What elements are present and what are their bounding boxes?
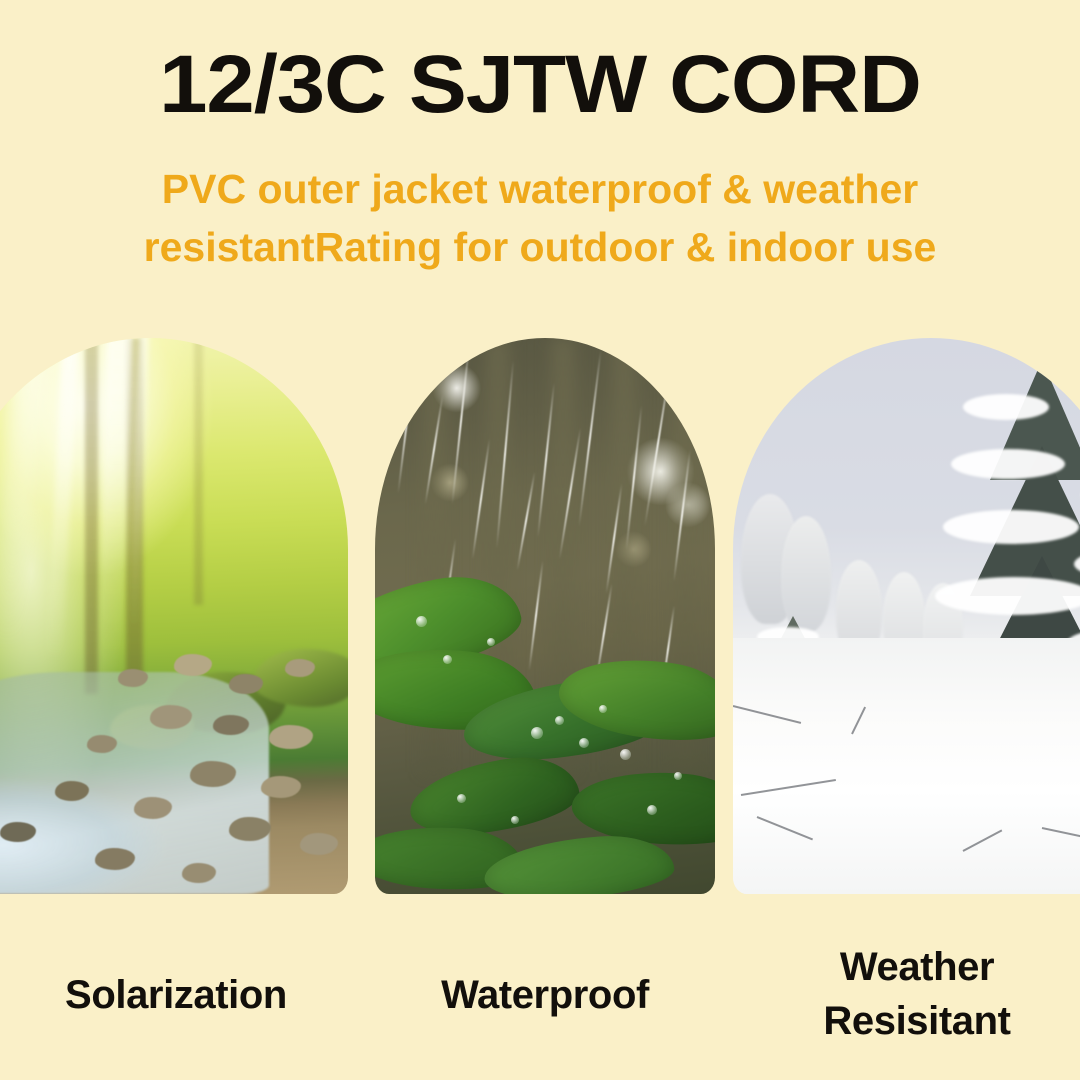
- water-droplet: [457, 794, 466, 803]
- pebble-bed: [0, 638, 348, 894]
- feature-panel-waterproof: [375, 338, 715, 894]
- sunlit-forest-image: [0, 338, 348, 894]
- pebble: [229, 817, 271, 841]
- pebble: [213, 715, 249, 735]
- rain-streak: [528, 561, 544, 672]
- feature-panels: [0, 0, 1080, 1080]
- pebble: [118, 669, 148, 687]
- background-tree: [781, 516, 831, 632]
- rain-streak: [451, 338, 470, 504]
- water-droplet: [443, 655, 452, 664]
- pebble: [150, 705, 192, 729]
- pebble: [300, 833, 338, 855]
- sunbeam: [46, 338, 80, 661]
- rain-streak: [644, 361, 672, 526]
- water-droplet: [647, 805, 657, 815]
- pebble: [229, 674, 263, 694]
- caption-weather-line-2: Resisitant: [767, 994, 1067, 1048]
- caption-weather-line-1: Weather: [767, 940, 1067, 994]
- wet-leaf: [482, 832, 676, 894]
- pebble: [285, 659, 315, 677]
- feature-panel-solarization: [0, 338, 348, 894]
- snow-field: [733, 638, 1080, 894]
- tree-trunk: [194, 338, 203, 605]
- water-droplet: [416, 616, 427, 627]
- pebble: [261, 776, 301, 798]
- pebble: [55, 781, 89, 801]
- pebble: [134, 797, 172, 819]
- pebble: [182, 863, 216, 883]
- snow-on-branch: [951, 449, 1065, 479]
- caption-solarization: Solarization: [26, 968, 326, 1022]
- rain-streak: [516, 472, 535, 571]
- pebble: [174, 654, 212, 676]
- pebble: [190, 761, 236, 787]
- snow-on-branch: [963, 394, 1049, 420]
- snowy-forest-image: [733, 338, 1080, 894]
- caption-waterproof: Waterproof: [395, 968, 695, 1022]
- sunbeam: [0, 348, 46, 650]
- pebble: [0, 822, 36, 842]
- pebble: [95, 848, 135, 870]
- water-droplet: [674, 772, 682, 780]
- caption-weather-resistant: Weather Resisitant: [767, 940, 1067, 1048]
- feature-panel-weather-resistant: [733, 338, 1080, 894]
- rain-streak: [397, 350, 417, 494]
- rain-streak: [578, 350, 602, 527]
- pebble: [87, 735, 117, 753]
- rain-on-leaves-image: [375, 338, 715, 894]
- product-feature-infographic: 12/3C SJTW CORD PVC outer jacket waterpr…: [0, 0, 1080, 1080]
- pebble: [269, 725, 313, 749]
